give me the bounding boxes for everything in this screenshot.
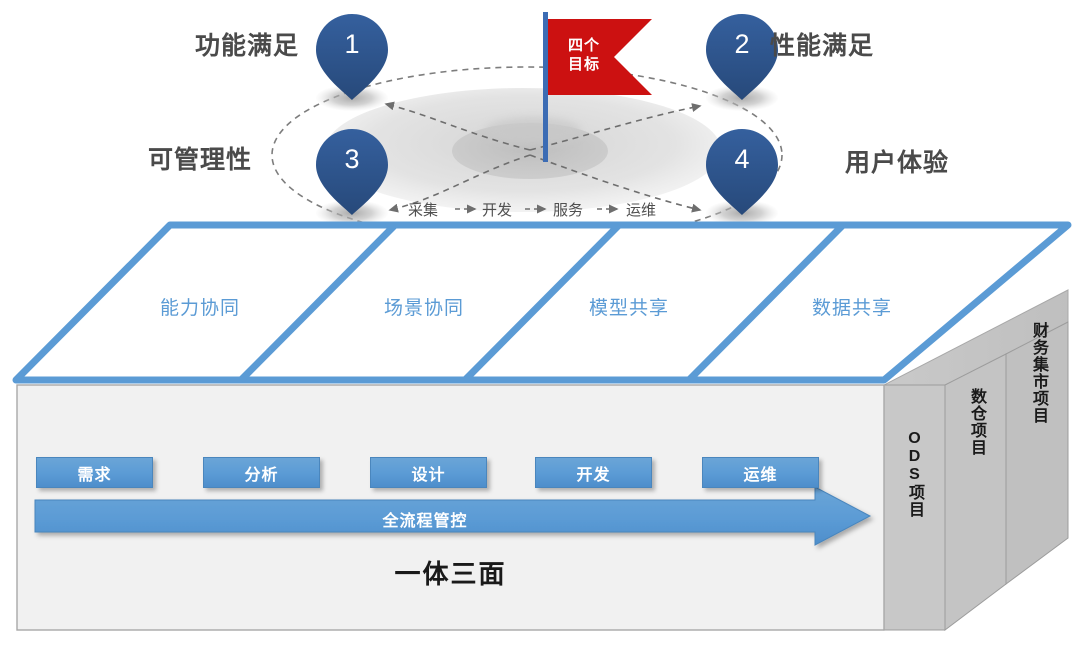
stage-button-4[interactable]: 开发 <box>535 457 652 488</box>
pin-2-number: 2 <box>722 29 762 60</box>
top-face-label-1[interactable]: 能力协同 <box>160 293 240 320</box>
diagram-canvas: 四个 目标 1 2 3 4 功能满足 性能满足 可管理性 用户体验 采集 开发 … <box>0 0 1080 651</box>
pin-1-number: 1 <box>332 29 372 60</box>
side-panel-label-2: 数仓项目 <box>968 388 984 456</box>
flag-label-line-1: 四个 <box>553 36 615 55</box>
flow-label-3: 服务 <box>553 199 583 220</box>
stage-button-1[interactable]: 需求 <box>36 457 153 488</box>
goal-label-2: 性能满足 <box>770 26 874 62</box>
bottom-title: 一体三面 <box>17 554 884 591</box>
side-panel-label-3: 财务集市项目 <box>1030 322 1046 424</box>
flow-label-4: 运维 <box>626 199 656 220</box>
side-panel-label-1: ODS项目 <box>906 430 922 518</box>
flag-pole <box>543 12 548 162</box>
stage-button-3[interactable]: 设计 <box>370 457 487 488</box>
process-arrow-label: 全流程管控 <box>35 507 815 531</box>
goal-label-4: 用户体验 <box>845 143 949 179</box>
flow-label-1: 采集 <box>408 199 438 220</box>
stage-button-5[interactable]: 运维 <box>702 457 819 488</box>
goal-label-1: 功能满足 <box>195 26 299 62</box>
goal-label-3: 可管理性 <box>148 140 252 176</box>
stage-button-2[interactable]: 分析 <box>203 457 320 488</box>
pin-3-number: 3 <box>332 144 372 175</box>
top-face-label-2[interactable]: 场景协同 <box>384 293 464 320</box>
pin-4-number: 4 <box>722 144 762 175</box>
top-face-label-4[interactable]: 数据共享 <box>812 293 892 320</box>
flag-label-line-2: 目标 <box>553 55 615 74</box>
top-face-label-3[interactable]: 模型共享 <box>589 293 669 320</box>
flow-label-2: 开发 <box>482 199 512 220</box>
flag-label: 四个 目标 <box>553 36 615 74</box>
